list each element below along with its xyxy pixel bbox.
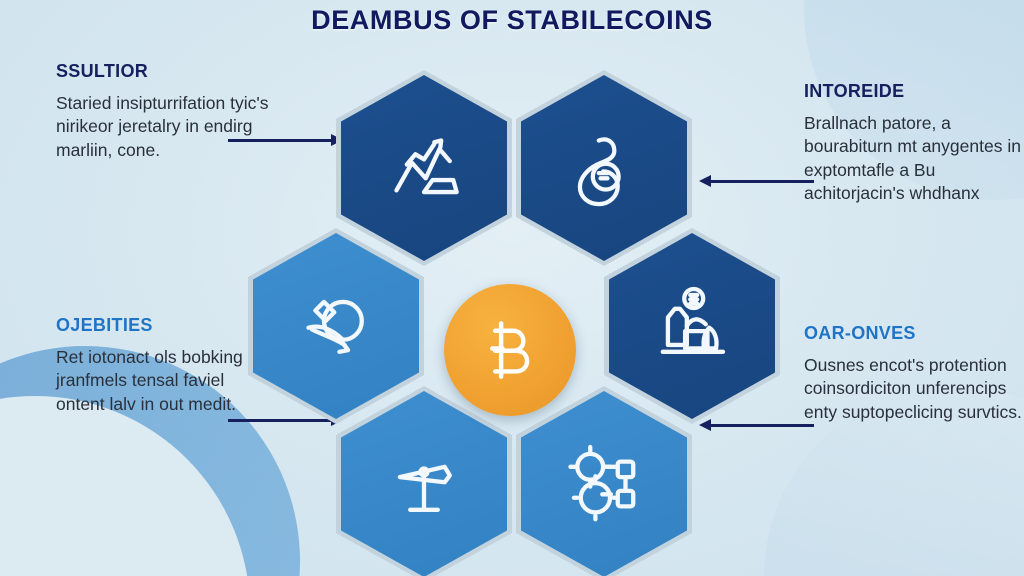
line-chart-icon bbox=[381, 125, 467, 211]
body-top-left: Staried insipturrifation tyic's nirikeor… bbox=[56, 92, 274, 162]
text-block-top-right: INTOREIDE Brallnach patore, a bourabitur… bbox=[804, 82, 1022, 206]
hexagon-cluster bbox=[248, 58, 784, 570]
hexagon-bottom-right[interactable] bbox=[516, 386, 692, 576]
body-bottom-right: Ousnes encot's protention coinsordiciton… bbox=[804, 354, 1022, 424]
heading-top-right: INTOREIDE bbox=[804, 82, 1022, 101]
text-block-top-left: SSULTIOR Staried insipturrifation tyic's… bbox=[56, 62, 274, 162]
center-coin[interactable] bbox=[444, 284, 576, 416]
hexagon-middle-right[interactable] bbox=[604, 228, 780, 424]
hexagon-middle-left[interactable] bbox=[248, 228, 424, 424]
text-block-bottom-left: OJEBITIES Ret iotonact ols bobking jranf… bbox=[56, 316, 274, 416]
bank-coins-icon bbox=[649, 283, 735, 369]
body-top-right: Brallnach patore, a bourabiturn mt anyge… bbox=[804, 112, 1022, 206]
infographic-canvas: DEAMBUS OF STABILECOINS SSULTIOR Staried… bbox=[0, 0, 1024, 576]
balance-scale-icon bbox=[381, 441, 467, 527]
heading-top-left: SSULTIOR bbox=[56, 62, 274, 81]
body-bottom-left: Ret iotonact ols bobking jranfmels tensa… bbox=[56, 346, 274, 416]
heading-bottom-left: OJEBITIES bbox=[56, 316, 274, 335]
gear-network-icon bbox=[561, 441, 647, 527]
heading-bottom-right: OAR-ONVES bbox=[804, 324, 1022, 343]
hexagon-top-left[interactable] bbox=[336, 70, 512, 266]
hexagon-bottom-left[interactable] bbox=[336, 386, 512, 576]
text-block-bottom-right: OAR-ONVES Ousnes encot's protention coin… bbox=[804, 324, 1022, 424]
handshake-icon bbox=[293, 283, 379, 369]
decor-swoosh-bottom-left-cut bbox=[0, 396, 250, 576]
bitcoin-coin-icon bbox=[473, 313, 547, 387]
spiral-swirl-icon bbox=[561, 125, 647, 211]
hexagon-top-right[interactable] bbox=[516, 70, 692, 266]
page-title: DEAMBUS OF STABILECOINS bbox=[0, 5, 1024, 36]
